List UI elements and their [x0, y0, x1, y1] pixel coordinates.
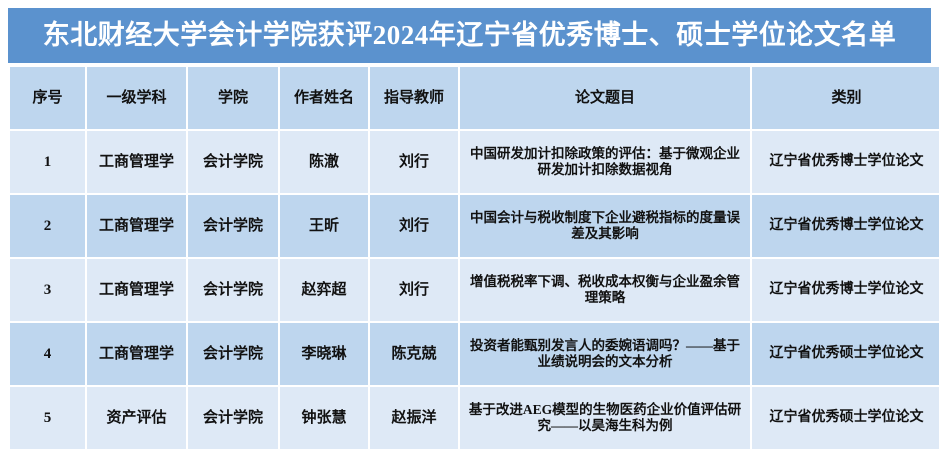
cell-school: 会计学院	[188, 323, 278, 385]
table-row: 5 资产评估 会计学院 钟张慧 赵振洋 基于改进AEG模型的生物医药企业价值评估…	[10, 387, 939, 449]
table-header: 序号 一级学科 学院 作者姓名 指导教师 论文题目 类别	[10, 67, 939, 129]
cell-advisor: 刘行	[370, 131, 458, 193]
column-header-category: 类别	[752, 67, 939, 129]
cell-discipline: 资产评估	[87, 387, 186, 449]
column-header-seq: 序号	[10, 67, 85, 129]
cell-author: 李晓琳	[280, 323, 368, 385]
cell-school: 会计学院	[188, 387, 278, 449]
cell-category: 辽宁省优秀博士学位论文	[752, 195, 939, 257]
cell-category: 辽宁省优秀硕士学位论文	[752, 387, 939, 449]
cell-advisor: 赵振洋	[370, 387, 458, 449]
table-header-row: 序号 一级学科 学院 作者姓名 指导教师 论文题目 类别	[10, 67, 939, 129]
table-row: 3 工商管理学 会计学院 赵弈超 刘行 增值税税率下调、税收成本权衡与企业盈余管…	[10, 259, 939, 321]
table-row: 2 工商管理学 会计学院 王昕 刘行 中国会计与税收制度下企业避税指标的度量误差…	[10, 195, 939, 257]
page-title: 东北财经大学会计学院获评2024年辽宁省优秀博士、硕士学位论文名单	[43, 22, 897, 49]
cell-category: 辽宁省优秀博士学位论文	[752, 259, 939, 321]
cell-advisor: 刘行	[370, 259, 458, 321]
cell-advisor: 陈克兢	[370, 323, 458, 385]
cell-paper-title: 中国研发加计扣除政策的评估：基于微观企业研发加计扣除数据视角	[460, 131, 750, 193]
cell-seq: 5	[10, 387, 85, 449]
column-header-paper-title: 论文题目	[460, 67, 750, 129]
column-header-discipline: 一级学科	[87, 67, 186, 129]
cell-paper-title: 投资者能甄别发言人的委婉语调吗？――基于业绩说明会的文本分析	[460, 323, 750, 385]
cell-author: 钟张慧	[280, 387, 368, 449]
table-row: 1 工商管理学 会计学院 陈澈 刘行 中国研发加计扣除政策的评估：基于微观企业研…	[10, 131, 939, 193]
awards-table-container: 序号 一级学科 学院 作者姓名 指导教师 论文题目 类别 1 工商管理学 会计学…	[8, 65, 931, 455]
column-header-advisor: 指导教师	[370, 67, 458, 129]
cell-discipline: 工商管理学	[87, 195, 186, 257]
cell-advisor: 刘行	[370, 195, 458, 257]
column-header-school: 学院	[188, 67, 278, 129]
cell-discipline: 工商管理学	[87, 323, 186, 385]
cell-author: 王昕	[280, 195, 368, 257]
cell-category: 辽宁省优秀硕士学位论文	[752, 323, 939, 385]
cell-seq: 2	[10, 195, 85, 257]
cell-discipline: 工商管理学	[87, 131, 186, 193]
column-header-author: 作者姓名	[280, 67, 368, 129]
table-body: 1 工商管理学 会计学院 陈澈 刘行 中国研发加计扣除政策的评估：基于微观企业研…	[10, 131, 939, 449]
document-page: 东北财经大学会计学院获评2024年辽宁省优秀博士、硕士学位论文名单 序号 一级学…	[0, 0, 939, 463]
cell-paper-title: 基于改进AEG模型的生物医药企业价值评估研究――以昊海生科为例	[460, 387, 750, 449]
cell-category: 辽宁省优秀博士学位论文	[752, 131, 939, 193]
cell-discipline: 工商管理学	[87, 259, 186, 321]
document-title-banner: 东北财经大学会计学院获评2024年辽宁省优秀博士、硕士学位论文名单	[8, 8, 931, 63]
awards-table: 序号 一级学科 学院 作者姓名 指导教师 论文题目 类别 1 工商管理学 会计学…	[8, 65, 939, 451]
cell-school: 会计学院	[188, 131, 278, 193]
cell-author: 陈澈	[280, 131, 368, 193]
cell-paper-title: 增值税税率下调、税收成本权衡与企业盈余管理策略	[460, 259, 750, 321]
cell-school: 会计学院	[188, 259, 278, 321]
cell-seq: 1	[10, 131, 85, 193]
cell-paper-title: 中国会计与税收制度下企业避税指标的度量误差及其影响	[460, 195, 750, 257]
cell-author: 赵弈超	[280, 259, 368, 321]
cell-school: 会计学院	[188, 195, 278, 257]
cell-seq: 4	[10, 323, 85, 385]
table-row: 4 工商管理学 会计学院 李晓琳 陈克兢 投资者能甄别发言人的委婉语调吗？――基…	[10, 323, 939, 385]
cell-seq: 3	[10, 259, 85, 321]
